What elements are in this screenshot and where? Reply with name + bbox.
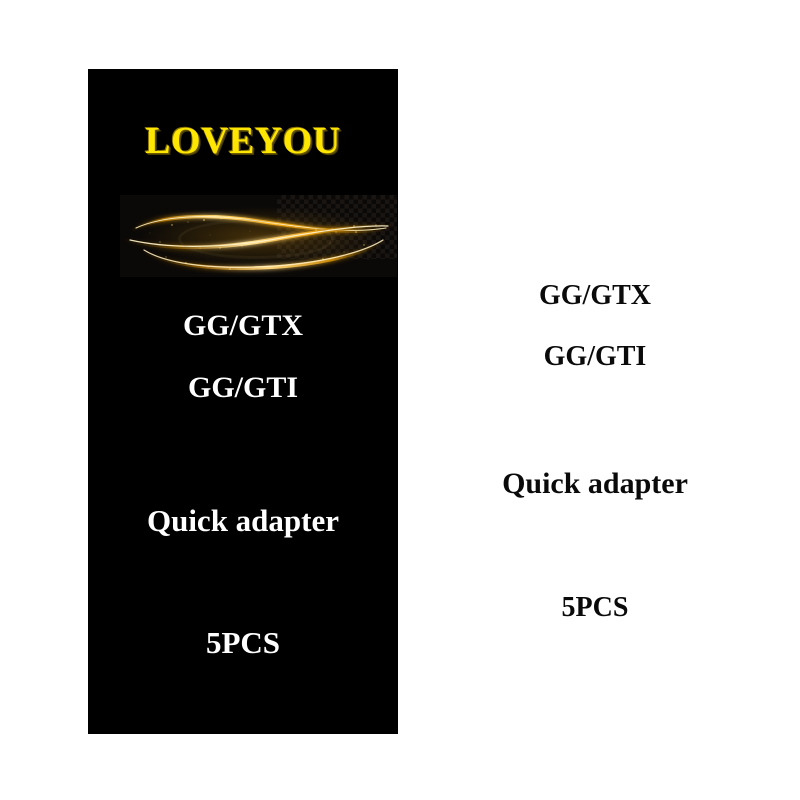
spec-text-column: GG/GTX GG/GTI Quick adapter 5PCS bbox=[430, 69, 760, 734]
card-model-line-2: GG/GTI bbox=[88, 371, 398, 405]
product-listing-canvas: LOVEYOU bbox=[0, 0, 800, 800]
golden-sparkle-swoosh-icon bbox=[120, 195, 397, 277]
card-product-name: Quick adapter bbox=[88, 503, 398, 539]
golden-sparkle-artwork bbox=[120, 195, 397, 277]
spec-product-name: Quick adapter bbox=[430, 467, 760, 501]
card-quantity: 5PCS bbox=[88, 625, 398, 661]
spec-model-line-2: GG/GTI bbox=[430, 341, 760, 373]
spec-quantity: 5PCS bbox=[430, 592, 760, 624]
card-model-line-1: GG/GTX bbox=[88, 309, 398, 343]
spec-model-line-1: GG/GTX bbox=[430, 280, 760, 312]
brand-wordmark: LOVEYOU bbox=[88, 120, 398, 162]
product-packaging-card: LOVEYOU bbox=[88, 69, 398, 734]
